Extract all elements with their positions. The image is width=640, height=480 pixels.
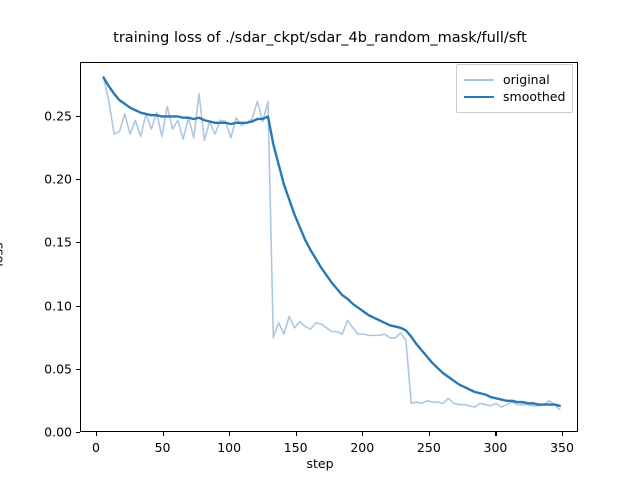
x-tick-mark [495,432,496,436]
y-axis-label: loss [0,242,6,266]
y-tick-mark [76,432,80,433]
plot-area [80,62,578,432]
y-tick-label: 0.15 [20,235,72,250]
legend-item-smoothed: smoothed [464,88,565,105]
x-tick-label: 350 [550,440,574,455]
x-tick-label: 200 [350,440,374,455]
figure-canvas: training loss of ./sdar_ckpt/sdar_4b_ran… [0,0,640,480]
x-tick-mark [229,432,230,436]
y-tick-label: 0.20 [20,172,72,187]
x-tick-mark [96,432,97,436]
x-tick-label: 100 [217,440,241,455]
legend-swatch-original [464,79,494,81]
legend-item-original: original [464,71,565,88]
y-tick-label: 0.25 [20,108,72,123]
y-tick-label: 0.00 [20,425,72,440]
y-tick-label: 0.05 [20,361,72,376]
x-tick-mark [163,432,164,436]
plot-lines [81,63,577,431]
legend: original smoothed [456,64,573,113]
x-tick-mark [296,432,297,436]
legend-label-smoothed: smoothed [503,89,565,104]
series-line-original [104,77,560,409]
x-tick-mark [429,432,430,436]
x-tick-label: 250 [417,440,441,455]
x-tick-label: 0 [92,440,100,455]
legend-label-original: original [503,72,550,87]
y-tick-label: 0.10 [20,298,72,313]
x-tick-mark [562,432,563,436]
x-tick-label: 300 [484,440,508,455]
x-tick-mark [362,432,363,436]
x-axis-label: step [0,456,640,471]
legend-swatch-smoothed [464,96,494,98]
chart-title: training loss of ./sdar_ckpt/sdar_4b_ran… [0,30,640,46]
x-tick-label: 50 [155,440,171,455]
x-tick-label: 150 [284,440,308,455]
